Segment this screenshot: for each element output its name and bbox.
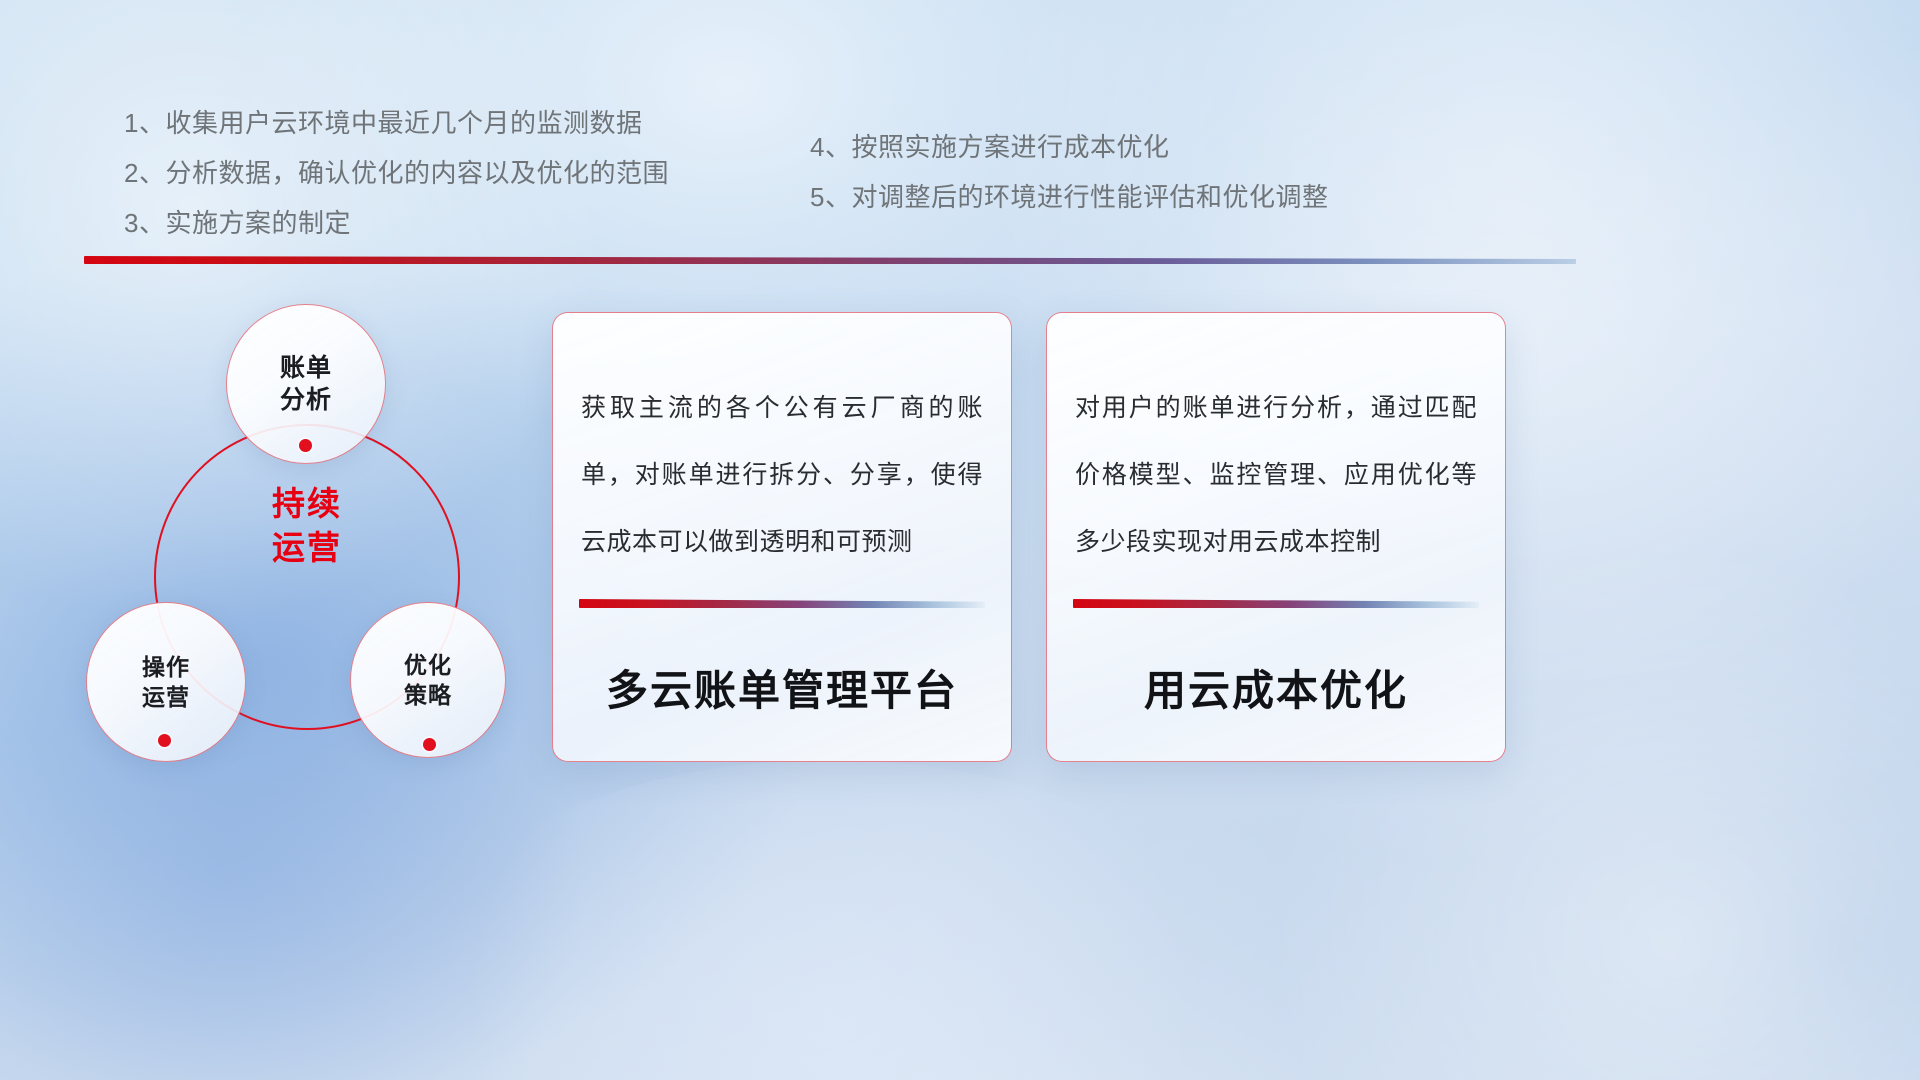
bubble-line-2: 策略 [404, 682, 452, 708]
center-line-1: 持续 [272, 485, 342, 522]
card-divider-rule [1073, 599, 1479, 608]
card-title: 多云账单管理平台 [553, 657, 1011, 718]
step-item-4: 4、按照实施方案进行成本优化 [810, 122, 1328, 172]
card-divider-rule [579, 599, 985, 608]
diagram-bubble-label: 优化 策略 [404, 650, 452, 710]
continuous-operation-diagram: 账单 分析 操作 运营 优化 策略 持续 运营 [80, 290, 550, 770]
step-item-3: 3、实施方案的制定 [124, 198, 669, 248]
bubble-line-2: 运营 [142, 684, 190, 710]
card-title: 用云成本优化 [1047, 657, 1505, 718]
slide-canvas: 1、收集用户云环境中最近几个月的监测数据 2、分析数据，确认优化的内容以及优化的… [0, 0, 1920, 1080]
bubble-line-1: 操作 [142, 654, 190, 680]
background-glow-bottom [380, 760, 1280, 1080]
diagram-bubble-optimization-strategy[interactable]: 优化 策略 [350, 602, 506, 758]
diagram-node-dot-left [158, 734, 171, 747]
bubble-line-1: 优化 [404, 652, 452, 678]
center-line-2: 运营 [272, 529, 342, 566]
section-divider-rule [84, 256, 1576, 264]
diagram-bubble-label: 账单 分析 [280, 352, 332, 416]
diagram-node-dot-top [299, 439, 312, 452]
card-body-text: 获取主流的各个公有云厂商的账单，对账单进行拆分、分享，使得云成本可以做到透明和可… [581, 375, 983, 576]
steps-list-left: 1、收集用户云环境中最近几个月的监测数据 2、分析数据，确认优化的内容以及优化的… [124, 98, 669, 248]
step-item-2: 2、分析数据，确认优化的内容以及优化的范围 [124, 148, 669, 198]
bubble-line-1: 账单 [280, 354, 332, 382]
step-item-1: 1、收集用户云环境中最近几个月的监测数据 [124, 98, 669, 148]
step-item-5: 5、对调整后的环境进行性能评估和优化调整 [810, 172, 1328, 222]
feature-card-cloud-cost-optimization[interactable]: 对用户的账单进行分析，通过匹配价格模型、监控管理、应用优化等多少段实现对用云成本… [1046, 312, 1506, 762]
diagram-bubble-label: 操作 运营 [142, 652, 190, 712]
diagram-node-dot-right [423, 738, 436, 751]
bubble-line-2: 分析 [280, 386, 332, 414]
feature-card-multicloud-billing[interactable]: 获取主流的各个公有云厂商的账单，对账单进行拆分、分享，使得云成本可以做到透明和可… [552, 312, 1012, 762]
diagram-center-label: 持续 运营 [228, 482, 386, 570]
steps-list-right: 4、按照实施方案进行成本优化 5、对调整后的环境进行性能评估和优化调整 [810, 122, 1328, 222]
card-body-text: 对用户的账单进行分析，通过匹配价格模型、监控管理、应用优化等多少段实现对用云成本… [1075, 375, 1477, 576]
